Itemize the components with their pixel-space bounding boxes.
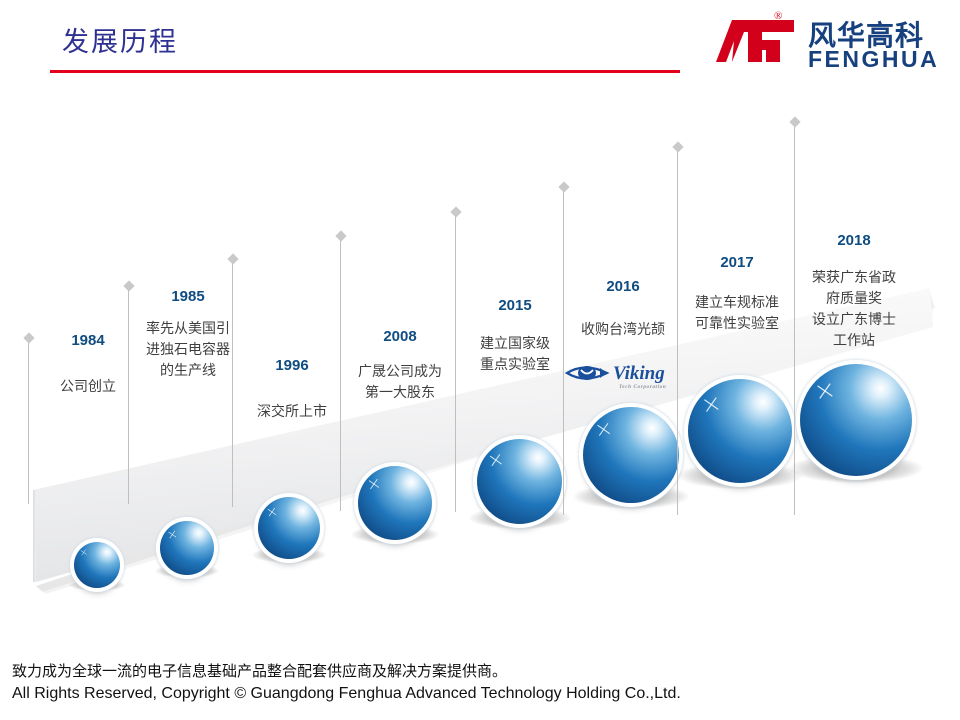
milestone-description: 建立国家级 重点实验室 xyxy=(455,334,575,376)
footer-slogan: 致力成为全球一流的电子信息基础产品整合配套供应商及解决方案提供商。 xyxy=(12,660,507,681)
milestone-sphere[interactable] xyxy=(688,379,792,483)
milestone-2015[interactable]: 2015建立国家级 重点实验室 xyxy=(455,92,575,640)
milestone-year: 2016 xyxy=(563,278,683,295)
logo-english-name: FENGHUA xyxy=(808,46,939,73)
registered-trademark-icon: ® xyxy=(774,10,782,22)
title-underline-rule xyxy=(50,70,680,73)
milestone-2017[interactable]: 2017建立车规标准 可靠性实验室 xyxy=(677,92,797,640)
milestone-sphere[interactable] xyxy=(800,364,912,476)
viking-logo: VikingTech Corporation xyxy=(563,360,683,394)
slide-footer: 致力成为全球一流的电子信息基础产品整合配套供应商及解决方案提供商。 All Ri… xyxy=(0,656,960,720)
milestone-connector-line xyxy=(28,338,29,504)
sphere-graphic xyxy=(477,439,562,524)
milestone-description: 建立车规标准 可靠性实验室 xyxy=(677,293,797,335)
milestone-year: 2008 xyxy=(340,328,460,345)
milestone-2016[interactable]: 2016收购台湾光颉VikingTech Corporation xyxy=(563,92,683,640)
svg-text:Tech Corporation: Tech Corporation xyxy=(619,384,666,390)
sphere-graphic xyxy=(358,466,432,540)
milestone-year: 1985 xyxy=(128,288,248,305)
sphere-graphic xyxy=(800,364,912,476)
milestone-year: 2015 xyxy=(455,297,575,314)
milestone-description: 广晟公司成为 第一大股东 xyxy=(340,362,460,404)
svg-text:Viking: Viking xyxy=(613,363,665,384)
fenghua-mark-icon xyxy=(702,16,794,66)
sphere-graphic xyxy=(583,407,679,503)
milestone-sphere[interactable] xyxy=(160,521,214,575)
milestone-year: 1996 xyxy=(232,357,352,374)
milestone-year: 2018 xyxy=(794,232,914,249)
milestone-sphere[interactable] xyxy=(358,466,432,540)
sphere-graphic xyxy=(688,379,792,483)
milestone-description: 荣获广东省政 府质量奖 设立广东博士 工作站 xyxy=(794,268,914,352)
milestone-sphere[interactable] xyxy=(477,439,562,524)
milestone-2008[interactable]: 2008广晟公司成为 第一大股东 xyxy=(340,92,460,640)
company-logo: ® 风华高科 FENGHUA xyxy=(674,8,942,74)
slide-header: 发展历程 ® 风华高科 FENGHUA xyxy=(0,0,960,92)
sphere-graphic xyxy=(160,521,214,575)
sphere-graphic xyxy=(74,542,120,588)
milestone-description: 深交所上市 xyxy=(232,402,352,423)
milestone-description: 收购台湾光颉 xyxy=(563,320,683,341)
milestone-connector-line xyxy=(232,259,233,507)
milestone-sphere[interactable] xyxy=(258,497,320,559)
timeline-stage: 1984公司创立1985率先从美国引 进独石电容器 的生产线1996深交所上市2… xyxy=(0,92,960,640)
milestone-year: 2017 xyxy=(677,254,797,271)
milestone-connector-line xyxy=(563,187,564,515)
milestone-sphere[interactable] xyxy=(74,542,120,588)
page-title: 发展历程 xyxy=(62,20,178,59)
milestone-sphere[interactable] xyxy=(583,407,679,503)
sphere-graphic xyxy=(258,497,320,559)
footer-copyright: All Rights Reserved, Copyright © Guangdo… xyxy=(12,685,681,703)
milestone-description: 率先从美国引 进独石电容器 的生产线 xyxy=(128,319,248,382)
